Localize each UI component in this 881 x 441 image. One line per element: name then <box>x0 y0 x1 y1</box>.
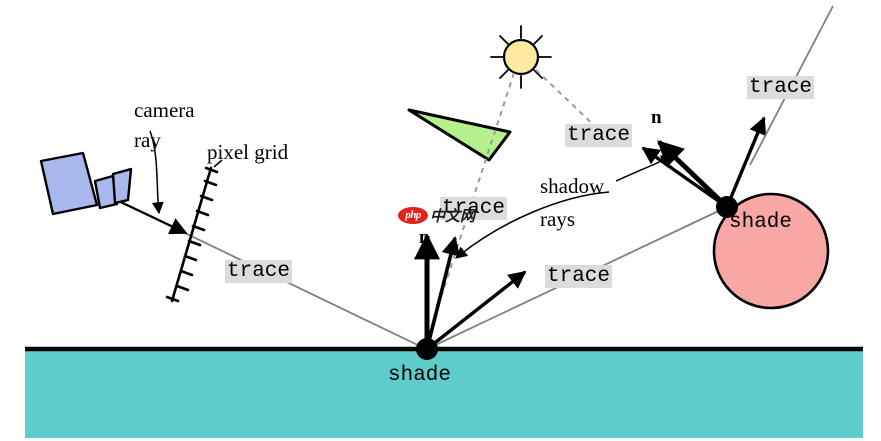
camera-ray-label-line1: camera <box>134 100 195 121</box>
php-watermark: php 中文网 <box>398 205 475 226</box>
ray-tracing-diagram: camera ray pixel grid trace trace trace … <box>0 0 881 441</box>
camera <box>41 153 131 214</box>
php-badge-icon: php <box>398 207 428 224</box>
sphere-normal-arrow <box>659 142 727 207</box>
sphere-shade-rays <box>643 6 833 218</box>
watermark-text: 中文网 <box>430 205 475 226</box>
ground-shade-point <box>416 338 438 360</box>
ground-shade-label: shade <box>388 365 451 386</box>
ground-plane <box>25 349 863 438</box>
camera-ray-label-line2: ray <box>134 130 161 151</box>
trace-label-camera-ray: trace <box>225 260 292 283</box>
sphere-shade-label: shade <box>729 212 792 233</box>
sphere-reflected-ray <box>727 118 764 207</box>
ground-normal-label: n <box>419 228 430 247</box>
sphere-normal-label: n <box>651 108 662 127</box>
sphere-shadow-ray <box>643 148 727 207</box>
trace-label-ground-to-sphere: trace <box>545 265 612 288</box>
shadow-rays-label-line1: shadow <box>540 176 604 197</box>
trace-label-top-right: trace <box>747 76 814 99</box>
pixel-grid-label: pixel grid <box>207 142 288 163</box>
light-source-sun <box>491 26 551 88</box>
trace-label-sphere-shadow: trace <box>565 124 632 147</box>
pixel-grid <box>167 168 217 301</box>
shadow-rays-label-line2: rays <box>540 209 575 230</box>
